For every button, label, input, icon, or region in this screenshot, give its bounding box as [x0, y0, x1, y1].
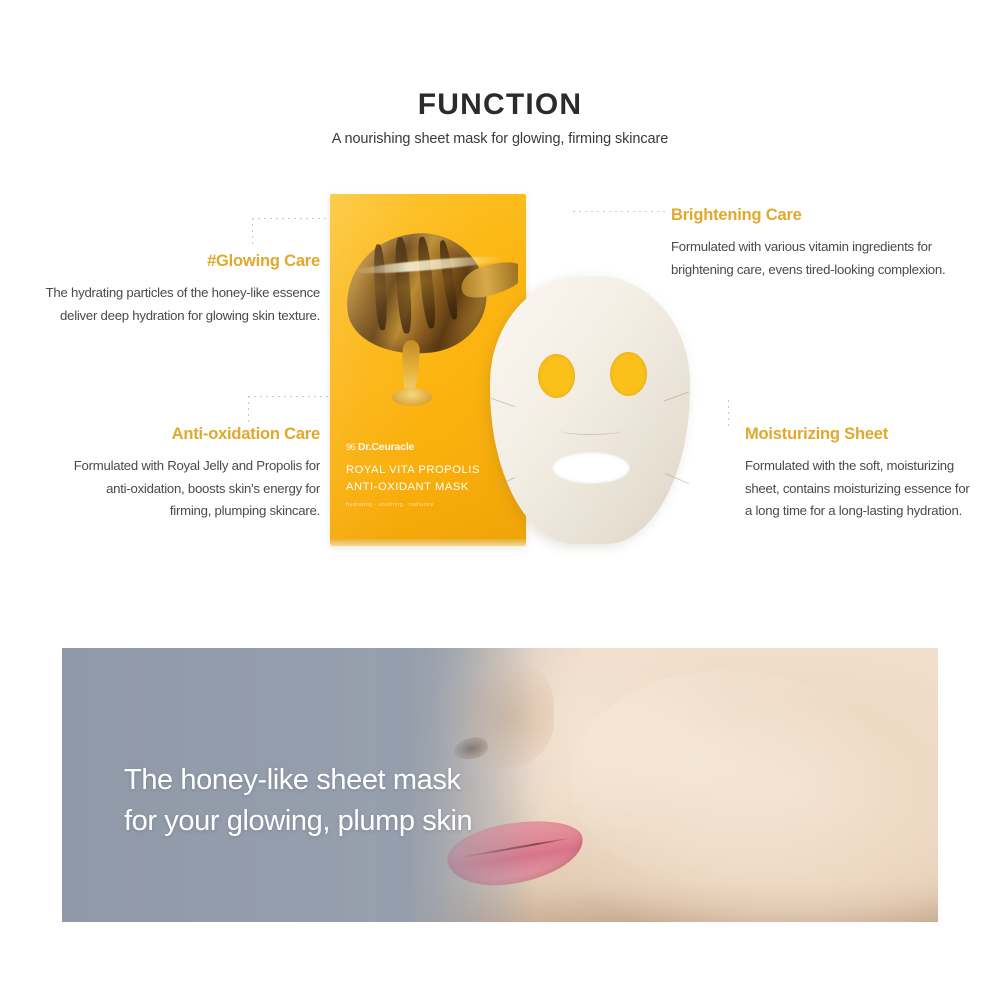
- feature-body: Formulated with Royal Jelly and Propolis…: [70, 455, 320, 523]
- brand-lockup: 96 Dr.Ceuracle: [346, 441, 480, 453]
- connector-antioxidation-vertical: [248, 396, 249, 422]
- feature-glowing-care: #Glowing Care The hydrating particles of…: [40, 252, 320, 327]
- product-name-line-1: ROYAL VITA PROPOLIS: [346, 462, 480, 479]
- page-subtitle: A nourishing sheet mask for glowing, fir…: [0, 131, 1000, 147]
- banner-headline-line-2: for your glowing, plump skin: [124, 801, 472, 842]
- feature-body: Formulated with the soft, moisturizing s…: [745, 455, 980, 523]
- product-image: 96 Dr.Ceuracle ROYAL VITA PROPOLIS ANTI-…: [330, 186, 730, 558]
- mask-side-slit: [665, 473, 689, 484]
- lifestyle-banner: The honey-like sheet mask for your glowi…: [62, 648, 938, 922]
- banner-headline-line-1: The honey-like sheet mask: [124, 760, 472, 801]
- feature-moisturizing-sheet: Moisturizing Sheet Formulated with the s…: [745, 425, 980, 523]
- mask-side-slit: [664, 391, 690, 401]
- mask-eye-hole-right: [610, 352, 647, 396]
- product-detail-page: FUNCTION A nourishing sheet mask for glo…: [0, 0, 1000, 1000]
- connector-glowing-horizontal: [252, 218, 336, 219]
- feature-title: #Glowing Care: [40, 252, 320, 271]
- brand-logo-icon: 96: [346, 442, 355, 452]
- sheet-mask: [490, 276, 690, 544]
- feature-body: The hydrating particles of the honey-lik…: [40, 282, 320, 327]
- product-name-line-2: ANTI-OXIDANT MASK: [346, 479, 480, 496]
- package-label: 96 Dr.Ceuracle ROYAL VITA PROPOLIS ANTI-…: [346, 441, 480, 508]
- feature-title: Moisturizing Sheet: [745, 425, 980, 444]
- mask-eye-hole-left: [538, 354, 575, 398]
- package-bottom-seal: [330, 539, 526, 546]
- mask-side-slit: [490, 398, 515, 408]
- mask-mouth-hole: [552, 452, 630, 484]
- page-title: FUNCTION: [0, 88, 1000, 122]
- mask-nose-crease: [560, 426, 622, 435]
- connector-glowing-vertical: [252, 218, 253, 246]
- connector-antioxidation-horizontal: [248, 396, 336, 397]
- mask-glossy-sheen: [570, 670, 885, 889]
- feature-anti-oxidation-care: Anti-oxidation Care Formulated with Roya…: [70, 425, 320, 523]
- brand-name: Dr.Ceuracle: [358, 441, 414, 453]
- feature-title: Anti-oxidation Care: [70, 425, 320, 444]
- banner-headline: The honey-like sheet mask for your glowi…: [124, 760, 472, 842]
- product-sub-line: hydrating · soothing · radiance: [346, 502, 480, 508]
